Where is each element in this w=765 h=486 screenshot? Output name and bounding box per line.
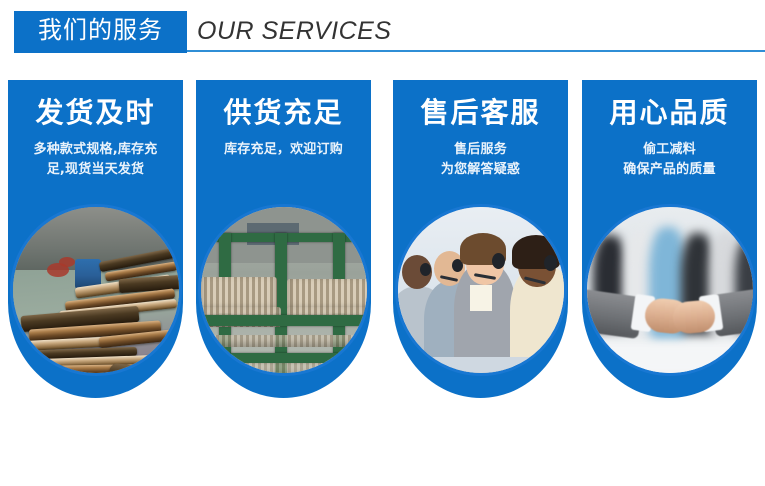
business-handshake-photo [584, 204, 756, 376]
service-card-subtitle: 售后服务 为您解答疑惑 [403, 140, 558, 180]
call-center-agents-photo [395, 204, 567, 376]
service-card-subtitle: 偷工减料 确保产品的质量 [592, 140, 747, 180]
steel-rack-storage-photo [198, 204, 370, 376]
photo-artwork [587, 207, 753, 373]
service-card-row: 发货及时 多种款式规格,库存充 足,现货当天发货 [0, 80, 765, 410]
service-card[interactable]: 售后客服 售后服务 为您解答疑惑 [393, 80, 568, 398]
header-tag-badge: 我们的服务 [14, 11, 187, 49]
service-card-title: 售后客服 [393, 98, 568, 129]
service-card[interactable]: 供货充足 库存充足，欢迎订购 [196, 80, 371, 398]
header-english-label: OUR SERVICES [197, 14, 391, 48]
header-rule-accent [14, 49, 187, 53]
service-card-title: 用心品质 [582, 98, 757, 129]
section-header: 我们的服务 OUR SERVICES [0, 0, 765, 62]
service-card[interactable]: 发货及时 多种款式规格,库存充 足,现货当天发货 [8, 80, 183, 398]
service-card-subtitle: 库存充足，欢迎订购 [206, 140, 361, 160]
header-rule-line [187, 50, 765, 52]
photo-artwork [13, 207, 179, 373]
services-banner: 我们的服务 OUR SERVICES 发货及时 多种款式规格,库存充 足,现货当… [0, 0, 765, 486]
service-card[interactable]: 用心品质 偷工减料 确保产品的质量 [582, 80, 757, 398]
service-card-title: 发货及时 [8, 98, 183, 129]
service-card-title: 供货充足 [196, 98, 371, 129]
photo-artwork [398, 207, 564, 373]
header-tag-label: 我们的服务 [38, 18, 163, 42]
service-card-subtitle: 多种款式规格,库存充 足,现货当天发货 [18, 140, 173, 180]
metal-bars-workshop-photo [10, 204, 182, 376]
photo-artwork [201, 207, 367, 373]
